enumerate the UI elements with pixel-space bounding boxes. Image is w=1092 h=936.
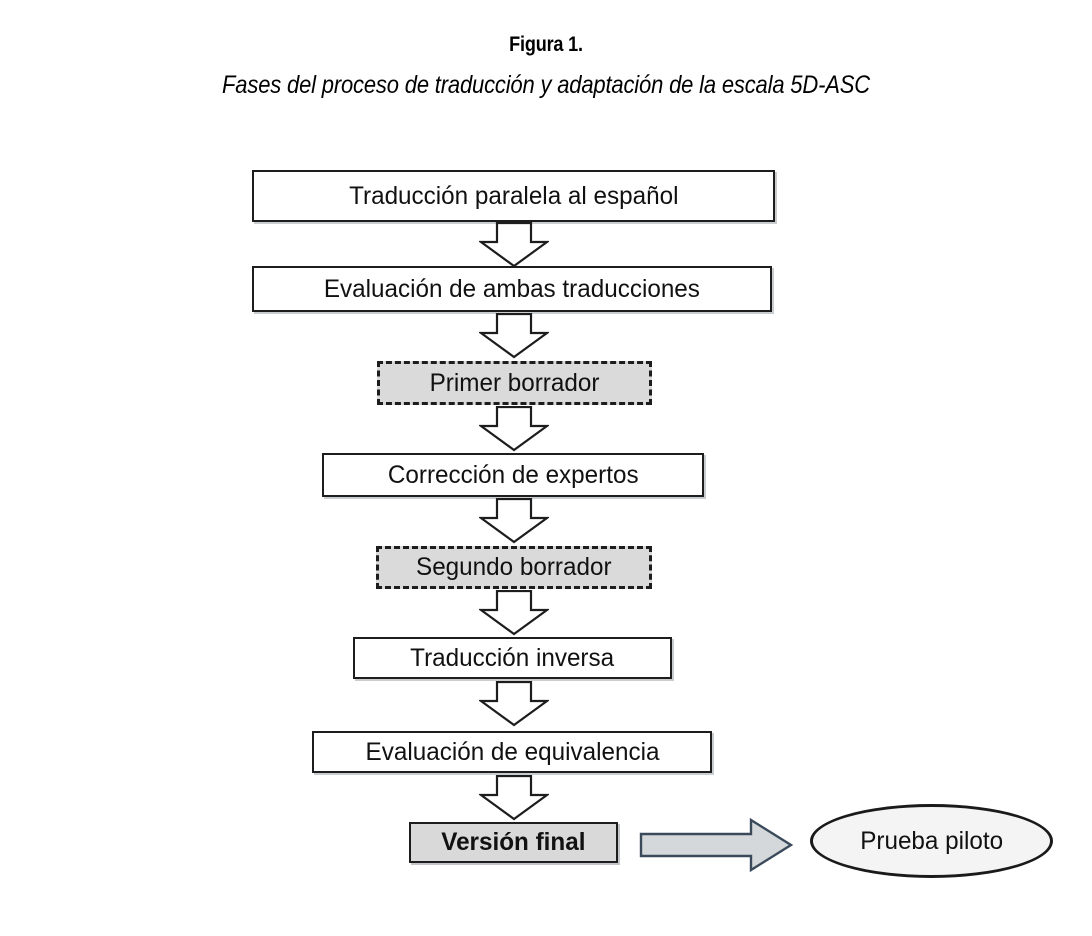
flow-node-label: Traducción paralela al español [349, 184, 678, 209]
down-arrow-icon-1 [479, 222, 549, 268]
down-arrow-icon-2 [479, 313, 549, 359]
down-arrow-icon-3 [479, 406, 549, 452]
down-arrow-icon-4 [479, 498, 549, 544]
flow-node-segundo-borrador: Segundo borrador [376, 546, 652, 589]
flowchart: Traducción paralela al español Evaluació… [0, 0, 1092, 936]
flow-node-label: Primer borrador [430, 371, 600, 396]
down-arrow-icon-5 [479, 590, 549, 636]
flow-node-evaluacion-equivalencia: Evaluación de equivalencia [312, 731, 712, 773]
flow-node-label: Evaluación de equivalencia [365, 740, 659, 765]
flow-node-traduccion-inversa: Traducción inversa [353, 637, 672, 679]
flow-node-label: Segundo borrador [416, 555, 612, 580]
flow-node-label: Evaluación de ambas traducciones [324, 277, 700, 302]
flow-node-label: Versión final [441, 830, 585, 855]
flow-node-label: Prueba piloto [860, 829, 1003, 854]
flow-node-evaluacion-traducciones: Evaluación de ambas traducciones [252, 266, 772, 312]
flow-node-prueba-piloto: Prueba piloto [810, 804, 1053, 878]
right-arrow-icon [639, 818, 795, 872]
down-arrow-icon-6 [479, 681, 549, 727]
flow-node-primer-borrador: Primer borrador [377, 361, 652, 405]
flow-node-correccion-expertos: Corrección de expertos [322, 453, 704, 497]
flow-node-label: Corrección de expertos [388, 463, 639, 488]
flow-node-version-final: Versión final [409, 822, 618, 863]
flow-node-traduccion-paralela: Traducción paralela al español [252, 170, 775, 222]
down-arrow-icon-7 [479, 775, 549, 821]
flow-node-label: Traducción inversa [411, 646, 615, 671]
